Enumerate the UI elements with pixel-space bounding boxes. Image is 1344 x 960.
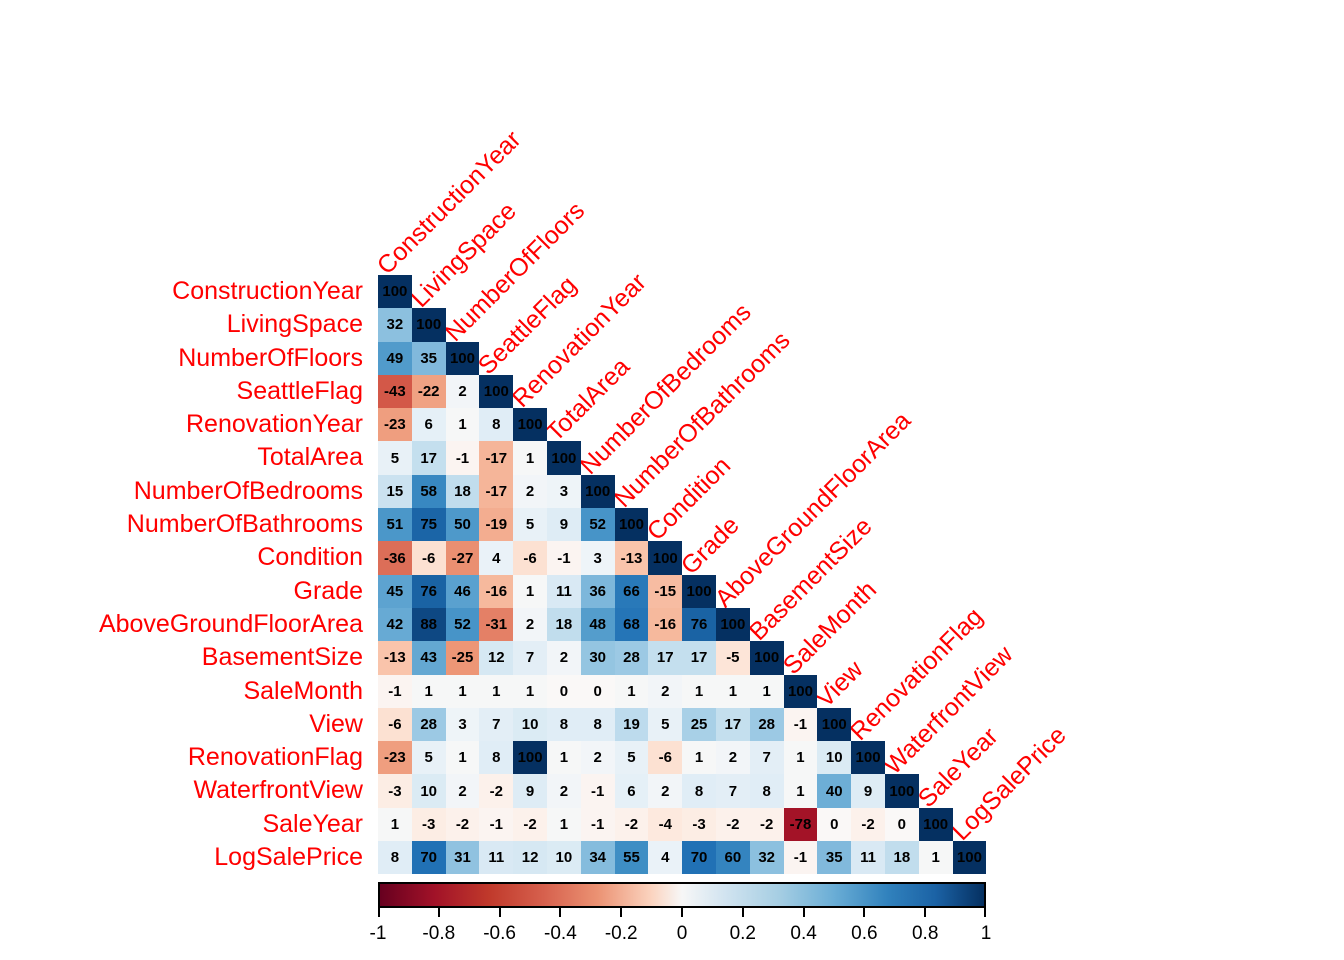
- matrix-cell-empty: [513, 342, 547, 375]
- colorbar-tick: [803, 908, 805, 917]
- matrix-cell-empty: [513, 275, 547, 308]
- row-label-salemonth: SaleMonth: [0, 675, 367, 708]
- colorbar-tick: [499, 908, 501, 917]
- matrix-cell: 43: [412, 641, 446, 674]
- matrix-cell: 100: [615, 508, 649, 541]
- matrix-cell: 100: [446, 342, 480, 375]
- matrix-cell-empty: [682, 475, 716, 508]
- matrix-cell: 5: [412, 741, 446, 774]
- matrix-cell-empty: [750, 275, 784, 308]
- matrix-cell: 8: [547, 708, 581, 741]
- matrix-cell-empty: [648, 342, 682, 375]
- matrix-cell-empty: [919, 741, 953, 774]
- matrix-cell: -43: [378, 375, 412, 408]
- matrix-cell-empty: [919, 308, 953, 341]
- matrix-cell: -1: [784, 841, 818, 874]
- matrix-cell-empty: [682, 508, 716, 541]
- matrix-cell: 9: [513, 774, 547, 807]
- matrix-cell: 7: [750, 741, 784, 774]
- matrix-cell-empty: [885, 475, 919, 508]
- matrix-cell: 100: [851, 741, 885, 774]
- matrix-cell: 5: [648, 708, 682, 741]
- matrix-cell-empty: [784, 375, 818, 408]
- matrix-cell: 8: [682, 774, 716, 807]
- matrix-row: -111110012111100: [378, 675, 986, 708]
- matrix-cell-empty: [615, 375, 649, 408]
- matrix-cell: -31: [479, 608, 513, 641]
- matrix-cell: 11: [851, 841, 885, 874]
- matrix-cell-empty: [851, 675, 885, 708]
- matrix-cell: 100: [479, 375, 513, 408]
- matrix-cell: 76: [412, 575, 446, 608]
- matrix-cell-empty: [953, 508, 987, 541]
- matrix-cell-empty: [919, 342, 953, 375]
- matrix-cell-empty: [784, 441, 818, 474]
- matrix-cell-empty: [953, 475, 987, 508]
- matrix-cell-empty: [750, 541, 784, 574]
- matrix-cell-empty: [919, 508, 953, 541]
- matrix-cell-empty: [919, 774, 953, 807]
- matrix-cell: 1: [615, 675, 649, 708]
- matrix-cell-empty: [682, 275, 716, 308]
- matrix-cell: 17: [716, 708, 750, 741]
- matrix-cell-empty: [851, 608, 885, 641]
- matrix-cell: 25: [682, 708, 716, 741]
- matrix-cell: 8: [378, 841, 412, 874]
- matrix-cell: -3: [378, 774, 412, 807]
- matrix-cell-empty: [953, 408, 987, 441]
- matrix-cell-empty: [784, 342, 818, 375]
- row-label-basementsize: BasementSize: [0, 641, 367, 674]
- matrix-cell: 0: [817, 808, 851, 841]
- matrix-cell: 1: [784, 774, 818, 807]
- matrix-cell-empty: [784, 408, 818, 441]
- matrix-cell-empty: [615, 408, 649, 441]
- colorbar-tick-label: 0.6: [851, 923, 877, 945]
- matrix-cell: 35: [412, 342, 446, 375]
- matrix-cell-empty: [750, 408, 784, 441]
- matrix-cell: 49: [378, 342, 412, 375]
- matrix-cell: 7: [716, 774, 750, 807]
- matrix-cell: 0: [547, 675, 581, 708]
- matrix-cell-empty: [750, 575, 784, 608]
- matrix-cell-empty: [885, 741, 919, 774]
- matrix-cell: 17: [648, 641, 682, 674]
- matrix-cell: -17: [479, 475, 513, 508]
- matrix-cell-empty: [682, 441, 716, 474]
- matrix-cell-empty: [581, 375, 615, 408]
- matrix-cell: 70: [682, 841, 716, 874]
- matrix-cell-empty: [817, 275, 851, 308]
- matrix-cell-empty: [885, 641, 919, 674]
- matrix-cell: -78: [784, 808, 818, 841]
- matrix-cell-empty: [953, 675, 987, 708]
- matrix-cell: -13: [378, 641, 412, 674]
- matrix-row: 1-3-2-1-21-1-2-4-3-2-2-780-20100: [378, 808, 986, 841]
- matrix-cell-empty: [513, 308, 547, 341]
- matrix-cell-empty: [851, 308, 885, 341]
- colorbar-tick-label: 0.2: [730, 923, 756, 945]
- matrix-cell: 11: [547, 575, 581, 608]
- matrix-cell-empty: [615, 308, 649, 341]
- matrix-cell-empty: [716, 575, 750, 608]
- matrix-cell-empty: [817, 608, 851, 641]
- matrix-cell-empty: [885, 375, 919, 408]
- matrix-cell-empty: [817, 475, 851, 508]
- matrix-cell-empty: [817, 342, 851, 375]
- matrix-row: -23618100: [378, 408, 986, 441]
- colorbar-tick: [438, 908, 440, 917]
- matrix-cell: 3: [446, 708, 480, 741]
- matrix-cell-empty: [817, 308, 851, 341]
- matrix-cell: 58: [412, 475, 446, 508]
- matrix-cell: 18: [885, 841, 919, 874]
- matrix-cell: -16: [479, 575, 513, 608]
- matrix-cell: 30: [581, 641, 615, 674]
- matrix-cell: -3: [682, 808, 716, 841]
- matrix-cell-empty: [885, 608, 919, 641]
- matrix-cell: 1: [513, 675, 547, 708]
- matrix-cell-empty: [716, 342, 750, 375]
- matrix-cell: 1: [378, 808, 412, 841]
- matrix-cell: 18: [547, 608, 581, 641]
- matrix-cell: 5: [378, 441, 412, 474]
- matrix-cell: 60: [716, 841, 750, 874]
- matrix-cell-empty: [716, 408, 750, 441]
- matrix-cell-empty: [648, 308, 682, 341]
- matrix-cell-empty: [851, 575, 885, 608]
- matrix-cell: 100: [919, 808, 953, 841]
- matrix-cell-empty: [885, 342, 919, 375]
- matrix-cell: -6: [378, 708, 412, 741]
- matrix-cell: 3: [581, 541, 615, 574]
- matrix-cell: 2: [648, 774, 682, 807]
- colorbar-tick-label: 1: [981, 923, 992, 945]
- matrix-cell: 0: [581, 675, 615, 708]
- matrix-cell-empty: [784, 508, 818, 541]
- matrix-cell: 6: [615, 774, 649, 807]
- matrix-cell: -25: [446, 641, 480, 674]
- colorbar-tick: [924, 908, 926, 917]
- matrix-cell: 9: [547, 508, 581, 541]
- matrix-cell: 32: [378, 308, 412, 341]
- matrix-cell-empty: [784, 575, 818, 608]
- matrix-cell-empty: [919, 408, 953, 441]
- row-label-saleyear: SaleYear: [0, 808, 367, 841]
- matrix-cell-empty: [919, 675, 953, 708]
- matrix-cell-empty: [851, 275, 885, 308]
- matrix-cell: 9: [851, 774, 885, 807]
- colorbar-ticks: [378, 908, 986, 917]
- matrix-cell: 2: [446, 375, 480, 408]
- matrix-cell-empty: [784, 608, 818, 641]
- matrix-cell-empty: [615, 441, 649, 474]
- matrix-cell: -3: [412, 808, 446, 841]
- matrix-row: -23518100125-6127110100: [378, 741, 986, 774]
- matrix-cell: 6: [412, 408, 446, 441]
- matrix-cell-empty: [817, 508, 851, 541]
- matrix-cell: 46: [446, 575, 480, 608]
- matrix-cell: 100: [412, 308, 446, 341]
- matrix-cell: 76: [682, 608, 716, 641]
- row-label-numberofbathrooms: NumberOfBathrooms: [0, 508, 367, 541]
- row-label-axis: ConstructionYearLivingSpaceNumberOfFloor…: [0, 275, 367, 874]
- matrix-cell-empty: [750, 375, 784, 408]
- matrix-cell-empty: [885, 275, 919, 308]
- matrix-cell-empty: [648, 408, 682, 441]
- matrix-cell: 3: [547, 475, 581, 508]
- correlation-matrix-grid: 100321004935100-43-222100-23618100517-1-…: [378, 275, 986, 874]
- matrix-cell: 55: [615, 841, 649, 874]
- matrix-cell-empty: [851, 641, 885, 674]
- matrix-cell: -1: [446, 441, 480, 474]
- matrix-cell-empty: [953, 342, 987, 375]
- matrix-cell-empty: [817, 441, 851, 474]
- matrix-cell: 8: [479, 408, 513, 441]
- matrix-cell-empty: [817, 575, 851, 608]
- matrix-cell-empty: [648, 275, 682, 308]
- matrix-cell-empty: [615, 475, 649, 508]
- matrix-cell-empty: [919, 708, 953, 741]
- row-label-seattleflag: SeattleFlag: [0, 375, 367, 408]
- matrix-cell: -6: [412, 541, 446, 574]
- matrix-cell: 1: [446, 675, 480, 708]
- matrix-cell: 68: [615, 608, 649, 641]
- matrix-cell-empty: [716, 275, 750, 308]
- matrix-cell-empty: [682, 375, 716, 408]
- matrix-cell: 2: [581, 741, 615, 774]
- row-label-renovationyear: RenovationYear: [0, 408, 367, 441]
- matrix-cell-empty: [547, 308, 581, 341]
- matrix-cell-empty: [479, 275, 513, 308]
- matrix-cell-empty: [817, 675, 851, 708]
- matrix-cell-empty: [919, 375, 953, 408]
- matrix-cell-empty: [682, 541, 716, 574]
- matrix-cell: 2: [648, 675, 682, 708]
- matrix-cell-empty: [750, 508, 784, 541]
- matrix-cell-empty: [716, 475, 750, 508]
- matrix-cell-empty: [513, 375, 547, 408]
- matrix-cell-empty: [919, 575, 953, 608]
- matrix-cell: -4: [648, 808, 682, 841]
- matrix-cell: 36: [581, 575, 615, 608]
- matrix-cell: 8: [479, 741, 513, 774]
- matrix-cell: -2: [750, 808, 784, 841]
- matrix-cell: 52: [446, 608, 480, 641]
- matrix-cell: 42: [378, 608, 412, 641]
- matrix-cell: 19: [615, 708, 649, 741]
- matrix-cell-empty: [851, 375, 885, 408]
- matrix-cell: -2: [513, 808, 547, 841]
- matrix-cell: 5: [615, 741, 649, 774]
- matrix-cell-empty: [851, 408, 885, 441]
- matrix-cell-empty: [919, 475, 953, 508]
- matrix-cell: 88: [412, 608, 446, 641]
- matrix-cell-empty: [750, 308, 784, 341]
- matrix-cell: 2: [513, 608, 547, 641]
- row-label-livingspace: LivingSpace: [0, 308, 367, 341]
- matrix-cell: -2: [716, 808, 750, 841]
- matrix-cell-empty: [479, 342, 513, 375]
- row-label-view: View: [0, 708, 367, 741]
- matrix-cell-empty: [682, 342, 716, 375]
- colorbar-tick: [681, 908, 683, 917]
- matrix-cell: -1: [581, 808, 615, 841]
- matrix-cell-empty: [547, 375, 581, 408]
- matrix-cell-empty: [682, 308, 716, 341]
- matrix-cell-empty: [851, 541, 885, 574]
- matrix-cell: 40: [817, 774, 851, 807]
- matrix-cell: 66: [615, 575, 649, 608]
- matrix-cell: 2: [716, 741, 750, 774]
- matrix-cell: -2: [479, 774, 513, 807]
- row-label-totalarea: TotalArea: [0, 441, 367, 474]
- matrix-cell: 100: [716, 608, 750, 641]
- matrix-cell-empty: [953, 741, 987, 774]
- matrix-cell: -1: [378, 675, 412, 708]
- matrix-cell: -5: [716, 641, 750, 674]
- matrix-row: 517-1-171100: [378, 441, 986, 474]
- matrix-cell-empty: [885, 575, 919, 608]
- matrix-cell-empty: [851, 441, 885, 474]
- colorbar-tick-label: -0.6: [483, 923, 516, 945]
- matrix-cell: -2: [446, 808, 480, 841]
- matrix-cell-empty: [581, 275, 615, 308]
- matrix-cell-empty: [581, 308, 615, 341]
- matrix-cell: -6: [648, 741, 682, 774]
- matrix-cell-empty: [885, 675, 919, 708]
- matrix-cell-empty: [919, 641, 953, 674]
- matrix-cell: 75: [412, 508, 446, 541]
- matrix-cell: 100: [784, 675, 818, 708]
- matrix-cell: 2: [547, 641, 581, 674]
- matrix-cell: -6: [513, 541, 547, 574]
- matrix-cell: 2: [547, 774, 581, 807]
- matrix-cell-empty: [817, 375, 851, 408]
- colorbar-tick: [984, 908, 986, 917]
- colorbar-tick-label: -1: [370, 923, 387, 945]
- matrix-cell-empty: [750, 441, 784, 474]
- matrix-cell: 10: [817, 741, 851, 774]
- matrix-cell: 8: [581, 708, 615, 741]
- matrix-cell-empty: [953, 275, 987, 308]
- matrix-cell: -27: [446, 541, 480, 574]
- matrix-row: 457646-161113666-15100: [378, 575, 986, 608]
- matrix-cell: 1: [547, 741, 581, 774]
- matrix-cell-empty: [750, 608, 784, 641]
- matrix-cell-empty: [919, 275, 953, 308]
- matrix-cell-empty: [885, 408, 919, 441]
- matrix-cell: 15: [378, 475, 412, 508]
- matrix-cell: 1: [682, 675, 716, 708]
- matrix-cell: 1: [919, 841, 953, 874]
- matrix-row: 32100: [378, 308, 986, 341]
- matrix-row: 4935100: [378, 342, 986, 375]
- matrix-row: 517550-195952100: [378, 508, 986, 541]
- matrix-cell-empty: [919, 608, 953, 641]
- row-label-abovegroundfloorarea: AboveGroundFloorArea: [0, 608, 367, 641]
- matrix-cell-empty: [648, 441, 682, 474]
- matrix-row: -36-6-274-6-13-13100: [378, 541, 986, 574]
- matrix-cell: 0: [885, 808, 919, 841]
- matrix-cell: 1: [479, 675, 513, 708]
- matrix-row: -3102-292-1628781409100: [378, 774, 986, 807]
- matrix-cell-empty: [615, 275, 649, 308]
- matrix-cell-empty: [885, 708, 919, 741]
- matrix-cell: 1: [682, 741, 716, 774]
- matrix-cell-empty: [953, 641, 987, 674]
- matrix-cell: 34: [581, 841, 615, 874]
- matrix-cell: -36: [378, 541, 412, 574]
- matrix-cell-empty: [784, 308, 818, 341]
- correlation-matrix-figure: ConstructionYearLivingSpaceNumberOfFloor…: [0, 0, 1344, 960]
- matrix-cell-empty: [784, 475, 818, 508]
- colorbar-tick-label: 0.4: [790, 923, 816, 945]
- matrix-cell: 28: [750, 708, 784, 741]
- colorbar-tick-label: 0: [677, 923, 688, 945]
- matrix-cell: 100: [378, 275, 412, 308]
- matrix-cell: 100: [682, 575, 716, 608]
- matrix-cell-empty: [953, 808, 987, 841]
- matrix-cell: 10: [412, 774, 446, 807]
- matrix-row: 8703111121034554706032-13511181100: [378, 841, 986, 874]
- matrix-cell: -19: [479, 508, 513, 541]
- matrix-cell-empty: [953, 708, 987, 741]
- matrix-cell-empty: [615, 342, 649, 375]
- matrix-cell-empty: [784, 541, 818, 574]
- column-label-constructionyear: ConstructionYear: [372, 125, 527, 280]
- matrix-cell: 17: [412, 441, 446, 474]
- matrix-cell: 45: [378, 575, 412, 608]
- matrix-cell: 1: [750, 675, 784, 708]
- matrix-cell-empty: [784, 275, 818, 308]
- matrix-cell-empty: [817, 408, 851, 441]
- matrix-cell-empty: [953, 575, 987, 608]
- row-label-constructionyear: ConstructionYear: [0, 275, 367, 308]
- matrix-cell: 1: [716, 675, 750, 708]
- matrix-cell: 11: [479, 841, 513, 874]
- colorbar-tick: [378, 908, 380, 917]
- matrix-cell-empty: [446, 308, 480, 341]
- matrix-cell: 100: [581, 475, 615, 508]
- matrix-cell-empty: [716, 508, 750, 541]
- matrix-cell: -1: [581, 774, 615, 807]
- matrix-cell: 2: [513, 475, 547, 508]
- matrix-cell: 4: [648, 841, 682, 874]
- matrix-cell-empty: [716, 308, 750, 341]
- matrix-cell-empty: [851, 508, 885, 541]
- matrix-cell-empty: [953, 375, 987, 408]
- matrix-cell-empty: [885, 441, 919, 474]
- matrix-cell: 32: [750, 841, 784, 874]
- matrix-cell-empty: [953, 441, 987, 474]
- matrix-cell-empty: [547, 408, 581, 441]
- matrix-cell-empty: [851, 342, 885, 375]
- row-label-condition: Condition: [0, 541, 367, 574]
- matrix-cell: 5: [513, 508, 547, 541]
- matrix-cell: 100: [547, 441, 581, 474]
- matrix-cell: 12: [479, 641, 513, 674]
- matrix-cell: -16: [648, 608, 682, 641]
- matrix-cell: 100: [953, 841, 987, 874]
- matrix-cell-empty: [446, 275, 480, 308]
- matrix-cell-empty: [817, 641, 851, 674]
- row-label-logsaleprice: LogSalePrice: [0, 841, 367, 874]
- matrix-cell-empty: [648, 508, 682, 541]
- matrix-cell-empty: [479, 308, 513, 341]
- matrix-cell-empty: [953, 608, 987, 641]
- matrix-cell: 10: [547, 841, 581, 874]
